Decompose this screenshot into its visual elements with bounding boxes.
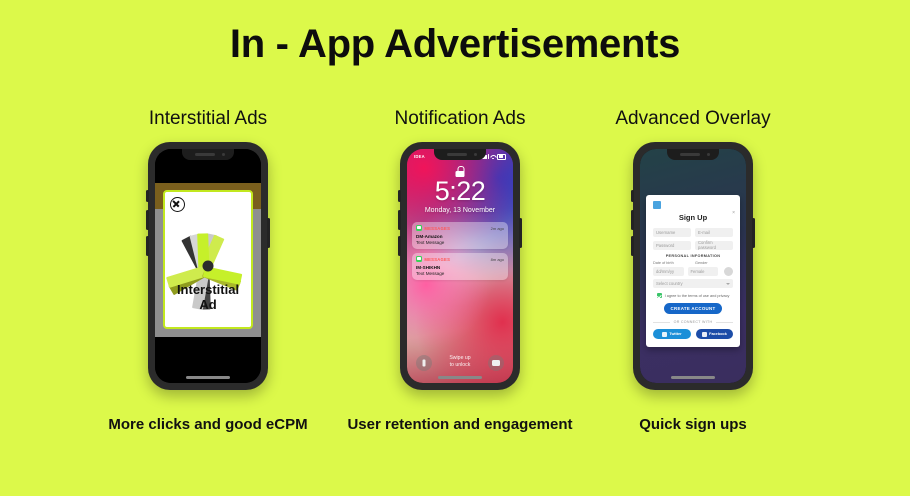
phone-screen-lockscreen: IDEA 5:22 Monday, 13 November [407,149,513,383]
date-of-birth-field[interactable]: dd/mm/yy [653,267,684,276]
speaker-grill [195,153,215,156]
lockscreen-time: 5:22 [407,178,513,205]
phone-mute-button[interactable] [631,190,634,202]
interstitial-ad-card[interactable]: Interstitial Ad [163,190,253,329]
phone-volume-down-button[interactable] [398,236,401,256]
gender-avatar [724,267,733,276]
notification-subtitle: Text Message [416,271,504,276]
ad-subline: Ad [165,298,251,313]
swipe-hint-line-2: to unlock [407,362,513,370]
gender-label: Gender [695,261,733,265]
home-indicator[interactable] [438,376,482,379]
phone-mute-button[interactable] [398,190,401,202]
terms-agreement-row[interactable]: I agree to the terms of use and privacy [653,293,733,298]
connect-with-divider: OR CONNECT WITH [653,320,733,324]
phone-volume-down-button[interactable] [146,236,149,256]
notification-timestamp: 2m ago [491,226,504,231]
signup-overlay-card: × Sign Up Username E-mail Password Confi… [646,195,740,347]
column-heading-overlay: Advanced Overlay [543,108,843,130]
confirm-password-field[interactable]: Confirm password [695,241,733,250]
checkbox-checked-icon[interactable] [657,293,662,298]
phone-mockup-overlay: × Sign Up Username E-mail Password Confi… [633,142,753,390]
ad-headline: Interstitial [165,283,251,298]
caption-overlay: Quick sign ups [543,416,843,435]
date-of-birth-label: Date of birth [653,261,691,265]
signup-row-2: Password Confirm password [653,241,733,250]
facebook-login-button[interactable]: Facebook [696,329,734,339]
password-field[interactable]: Password [653,241,691,250]
column-overlay: Advanced Overlay × Sign Up Username [543,108,843,390]
twitter-login-label: Twitter [669,332,681,336]
front-camera-icon [222,153,226,157]
divider-line-right [716,322,733,323]
twitter-login-button[interactable]: Twitter [653,329,691,339]
create-account-button[interactable]: CREATE ACCOUNT [664,303,722,314]
notification-header: MESSAGES 2m ago [416,225,504,231]
phone-volume-up-button[interactable] [398,210,401,230]
home-indicator[interactable] [671,376,715,379]
country-select[interactable]: Select country [653,279,733,288]
brand-logo-icon [653,201,661,209]
phone-screen-overlay: × Sign Up Username E-mail Password Confi… [640,149,746,383]
signup-row-1: Username E-mail [653,228,733,237]
chevron-down-icon [726,283,730,285]
close-circle-icon[interactable] [170,197,185,212]
signup-labels-row: Date of birth Gender [653,261,733,265]
front-camera-icon [474,153,478,157]
phone-mockup-notification: IDEA 5:22 Monday, 13 November [400,142,520,390]
notification-card[interactable]: MESSAGES 8m ago IM-SHIKHN Text Message [412,253,508,280]
messages-app-icon [416,225,422,231]
messages-app-icon [416,256,422,262]
notification-header: MESSAGES 8m ago [416,256,504,262]
swipe-hint-line-1: Swipe up [407,355,513,363]
signup-row-4: Select country [653,279,733,288]
front-camera-icon [707,153,711,157]
notification-app-name: MESSAGES [424,226,450,231]
email-field[interactable]: E-mail [695,228,733,237]
phone-volume-up-button[interactable] [631,210,634,230]
phone-power-button[interactable] [267,218,270,248]
notification-title: IM-SHIKHN [416,265,504,270]
phone-notch [434,149,486,160]
phone-screen-interstitial: Interstitial Ad [155,149,261,383]
wifi-icon [490,155,495,159]
notification-timestamp: 8m ago [491,257,504,262]
phone-volume-down-button[interactable] [631,236,634,256]
personal-information-label: PERSONAL INFORMATION [653,254,733,258]
speaker-grill [680,153,700,156]
phone-notch [182,149,234,160]
gender-field[interactable]: Female [688,267,719,276]
phone-volume-up-button[interactable] [146,210,149,230]
divider-line-left [653,322,670,323]
swipe-hint: Swipe up to unlock [407,355,513,370]
notification-app-group: MESSAGES [416,256,450,262]
terms-agreement-label: I agree to the terms of use and privacy [665,294,730,298]
phone-power-button[interactable] [752,218,755,248]
notification-card[interactable]: MESSAGES 2m ago DM-Amazon Text Message [412,222,508,249]
infographic-canvas: In - App Advertisements Interstitial Ads [0,0,910,496]
battery-icon [497,154,506,160]
close-icon[interactable]: × [732,211,735,216]
pinwheel-hub [203,261,214,272]
country-select-value: Select country [656,281,683,286]
notification-subtitle: Text Message [416,240,504,245]
notification-app-group: MESSAGES [416,225,450,231]
connect-with-label: OR CONNECT WITH [674,320,713,324]
phone-mockup-interstitial: Interstitial Ad [148,142,268,390]
phone-mute-button[interactable] [146,190,149,202]
home-indicator[interactable] [186,376,230,379]
facebook-login-label: Facebook [709,332,727,336]
social-buttons-row: Twitter Facebook [653,329,733,339]
page-title: In - App Advertisements [0,22,910,67]
notification-title: DM-Amazon [416,234,504,239]
phone-notch [667,149,719,160]
notification-app-name: MESSAGES [424,257,450,262]
facebook-icon [702,332,707,337]
carrier-label: IDEA [414,154,425,159]
username-field[interactable]: Username [653,228,691,237]
signup-title: Sign Up [653,213,733,222]
twitter-icon [662,332,667,337]
lockscreen-date: Monday, 13 November [407,207,513,214]
signup-row-3: dd/mm/yy Female [653,267,733,276]
ad-text-block: Interstitial Ad [165,283,251,313]
speaker-grill [447,153,467,156]
phone-power-button[interactable] [519,218,522,248]
